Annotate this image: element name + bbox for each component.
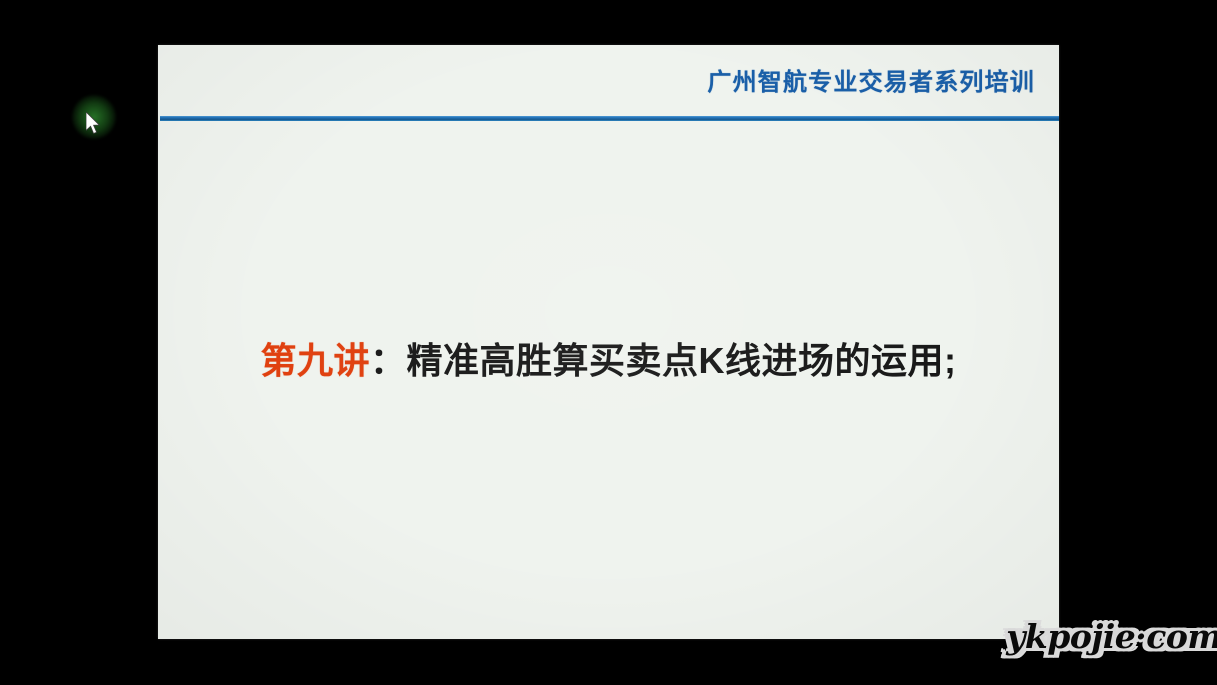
slide-header-title: 广州智航专业交易者系列培训: [707, 71, 1035, 95]
slide-header: 广州智航专业交易者系列培训: [158, 45, 1059, 121]
site-watermark-text: ykpojie·com: [1006, 617, 1217, 656]
arrow-cursor-icon: [86, 112, 102, 136]
header-divider-rule: [160, 116, 1059, 121]
site-watermark: ykpojie·com: [1019, 606, 1209, 666]
presentation-slide[interactable]: 广州智航专业交易者系列培训 第九讲：精准高胜算买卖点K线进场的运用;: [158, 45, 1059, 639]
slide-title-lecture-number: 第九讲: [260, 340, 370, 381]
slide-title-block: 第九讲：精准高胜算买卖点K线进场的运用;: [158, 341, 1059, 381]
slide-title-topic: ：精准高胜算买卖点K线进场的运用;: [370, 340, 957, 381]
screen-canvas: 广州智航专业交易者系列培训 第九讲：精准高胜算买卖点K线进场的运用; ykpoj…: [0, 0, 1217, 685]
slide-title-line: 第九讲：精准高胜算买卖点K线进场的运用;: [158, 341, 1059, 381]
